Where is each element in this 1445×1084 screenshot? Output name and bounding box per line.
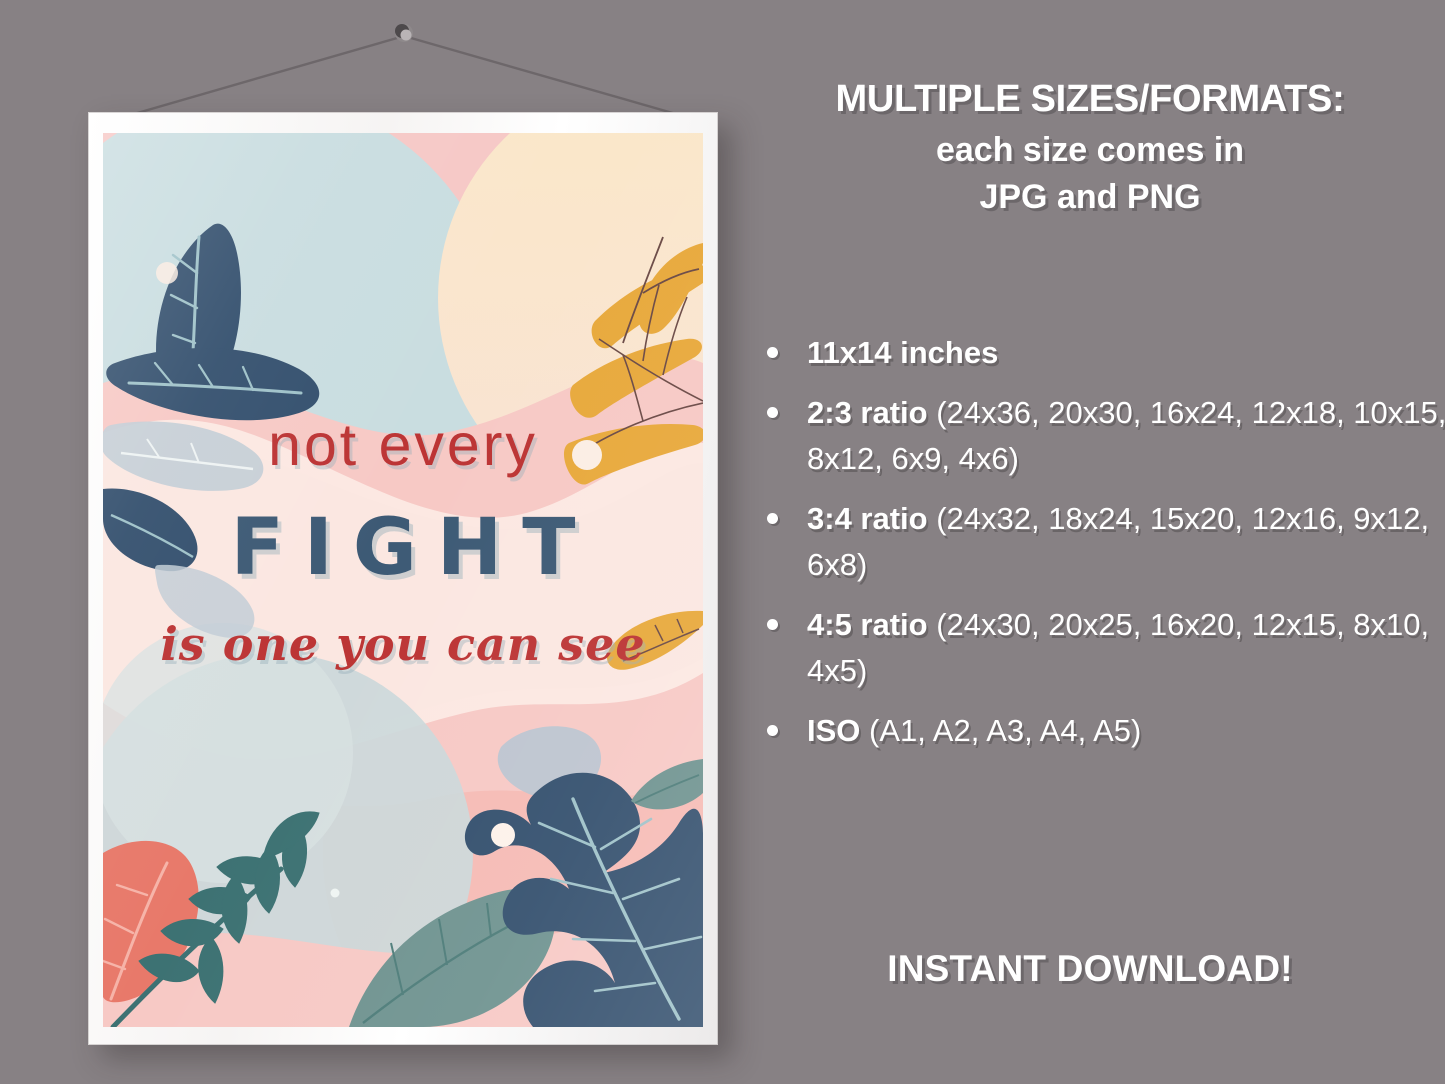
bullet-dot-icon (767, 513, 778, 524)
list-item: 3:4 ratio (24x32, 18x24, 15x20, 12x16, 9… (757, 496, 1445, 588)
list-item-detail: (A1, A2, A3, A4, A5) (869, 713, 1141, 748)
poster-quote: not every FIGHT is one you can see (103, 133, 703, 1027)
list-item: 2:3 ratio (24x36, 20x30, 16x24, 12x18, 1… (757, 390, 1445, 482)
list-item-label: 11x14 inches (807, 335, 998, 370)
instant-download-text: INSTANT DOWNLOAD! (735, 948, 1445, 990)
poster-artwork: not every FIGHT is one you can see (103, 133, 703, 1027)
poster-line-3: is one you can see (103, 617, 703, 671)
list-item-label: ISO (807, 713, 860, 748)
panel-headline: MULTIPLE SIZES/FORMATS: (735, 78, 1445, 121)
list-item: ISO (A1, A2, A3, A4, A5) (757, 708, 1445, 754)
bullet-dot-icon (767, 619, 778, 630)
list-item-label: 4:5 ratio (807, 607, 928, 642)
panel-subline-2: JPG and PNG (735, 178, 1445, 217)
poster-line-2: FIGHT (103, 503, 703, 593)
panel-subline-1: each size comes in (735, 131, 1445, 170)
format-list: 11x14 inches 2:3 ratio (24x36, 20x30, 16… (757, 330, 1445, 768)
list-item-label: 3:4 ratio (807, 501, 928, 536)
poster-line-1: not every (103, 411, 703, 479)
bullet-dot-icon (767, 407, 778, 418)
list-item: 11x14 inches (757, 330, 1445, 376)
list-item-label: 2:3 ratio (807, 395, 928, 430)
bullet-dot-icon (767, 347, 778, 358)
picture-frame: not every FIGHT is one you can see (88, 112, 718, 1045)
list-item: 4:5 ratio (24x30, 20x25, 16x20, 12x15, 8… (757, 602, 1445, 694)
bullet-dot-icon (767, 725, 778, 736)
info-panel: MULTIPLE SIZES/FORMATS: each size comes … (735, 0, 1445, 1084)
